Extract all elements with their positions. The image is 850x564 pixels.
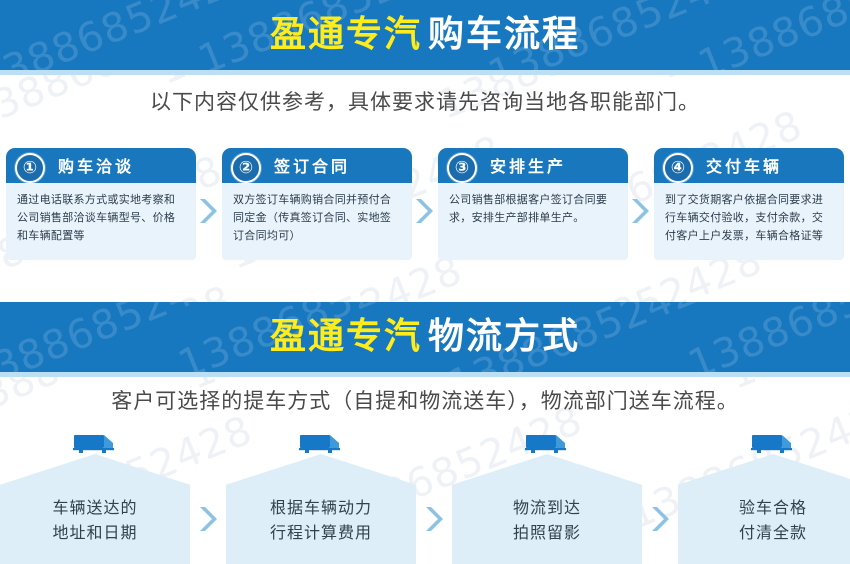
purchase-banner-title: 盈通专汽 购车流程 xyxy=(0,0,850,70)
delivery-card-1-line2: 地址和日期 xyxy=(0,521,190,546)
section-title: 物流方式 xyxy=(428,319,580,355)
chevron-right-icon xyxy=(628,196,650,226)
purchase-banner: 13886852428 13886852428 13886852428 1388… xyxy=(0,0,850,70)
truck-icon xyxy=(524,432,570,456)
step-header-3: ③ 安排生产 xyxy=(438,148,628,182)
step-header-4: ④ 交付车辆 xyxy=(654,148,844,182)
step-card-1[interactable]: ① 购车洽谈 通过电话联系方式或实地考察和公司销售部洽谈车辆型号、价格和车辆配置… xyxy=(6,148,196,260)
delivery-card-1[interactable]: 车辆送达的 地址和日期 xyxy=(0,454,190,564)
step-card-3[interactable]: ③ 安排生产 公司销售部根据客户签订合同要求，安排生产部排单生产。 xyxy=(438,148,628,260)
delivery-card-2-line1: 根据车辆动力 xyxy=(226,496,416,521)
logistics-subtitle: 客户可选择的提车方式（自提和物流送车），物流部门送车流程。 xyxy=(0,385,850,415)
delivery-card-3-line1: 物流到达 xyxy=(452,496,642,521)
chevron-right-icon xyxy=(196,196,218,226)
step-body-3: 公司销售部根据客户签订合同要求，安排生产部排单生产。 xyxy=(438,182,628,260)
logistics-cards: 车辆送达的 地址和日期 根据车辆动力 行程计算费用 xyxy=(0,432,850,564)
delivery-card-4[interactable]: 验车合格 付清全款 xyxy=(678,454,850,564)
step-number-3: ③ xyxy=(447,153,477,183)
step-body-4: 到了交货期客户依据合同要求进行车辆交付验收，支付余款，交付客户上户发票，车辆合格… xyxy=(654,182,844,260)
delivery-card-1-line1: 车辆送达的 xyxy=(0,496,190,521)
step-card-2[interactable]: ② 签订合同 双方签订车辆购销合同并预付合同定金（传真签订合同、实地签订合同均可… xyxy=(222,148,412,260)
delivery-card-4-line1: 验车合格 xyxy=(678,496,850,521)
step-number-2: ② xyxy=(231,153,261,183)
page-root: 13886852428 13886852428 13886852428 1388… xyxy=(0,0,850,564)
delivery-card-2[interactable]: 根据车辆动力 行程计算费用 xyxy=(226,454,416,564)
delivery-card-3[interactable]: 物流到达 拍照留影 xyxy=(452,454,642,564)
logistics-banner-strip xyxy=(0,372,850,377)
section-title: 购车流程 xyxy=(428,17,580,53)
delivery-card-2-text: 根据车辆动力 行程计算费用 xyxy=(226,496,416,546)
step-card-4[interactable]: ④ 交付车辆 到了交货期客户依据合同要求进行车辆交付验收，支付余款，交付客户上户… xyxy=(654,148,844,260)
step-header-2: ② 签订合同 xyxy=(222,148,412,182)
brand-name: 盈通专汽 xyxy=(270,17,422,53)
step-body-2: 双方签订车辆购销合同并预付合同定金（传真签订合同、实地签订合同均可） xyxy=(222,182,412,260)
purchase-banner-strip xyxy=(0,70,850,75)
step-body-1: 通过电话联系方式或实地考察和公司销售部洽谈车辆型号、价格和车辆配置等 xyxy=(6,182,196,260)
step-title-2: 签订合同 xyxy=(274,153,350,177)
truck-icon xyxy=(72,432,118,456)
step-header-1: ① 购车洽谈 xyxy=(6,148,196,182)
delivery-card-4-line2: 付清全款 xyxy=(678,521,850,546)
chevron-right-icon xyxy=(648,504,670,534)
logistics-banner: 13886852428 13886852428 13886852428 1388… xyxy=(0,302,850,372)
step-title-1: 购车洽谈 xyxy=(58,153,134,177)
brand-name: 盈通专汽 xyxy=(270,319,422,355)
step-number-1: ① xyxy=(15,153,45,183)
delivery-card-2-line2: 行程计算费用 xyxy=(226,521,416,546)
chevron-right-icon xyxy=(422,504,444,534)
delivery-card-1-text: 车辆送达的 地址和日期 xyxy=(0,496,190,546)
chevron-right-icon xyxy=(196,504,218,534)
logistics-banner-title: 盈通专汽 物流方式 xyxy=(0,302,850,372)
purchase-steps: ① 购车洽谈 通过电话联系方式或实地考察和公司销售部洽谈车辆型号、价格和车辆配置… xyxy=(0,140,850,260)
delivery-card-3-line2: 拍照留影 xyxy=(452,521,642,546)
truck-icon xyxy=(298,432,344,456)
truck-icon xyxy=(750,432,796,456)
chevron-right-icon xyxy=(412,196,434,226)
step-title-4: 交付车辆 xyxy=(706,153,782,177)
purchase-subtitle: 以下内容仅供参考，具体要求请先咨询当地各职能部门。 xyxy=(0,86,850,116)
delivery-card-3-text: 物流到达 拍照留影 xyxy=(452,496,642,546)
step-number-4: ④ xyxy=(663,153,693,183)
delivery-card-4-text: 验车合格 付清全款 xyxy=(678,496,850,546)
step-title-3: 安排生产 xyxy=(490,153,566,177)
